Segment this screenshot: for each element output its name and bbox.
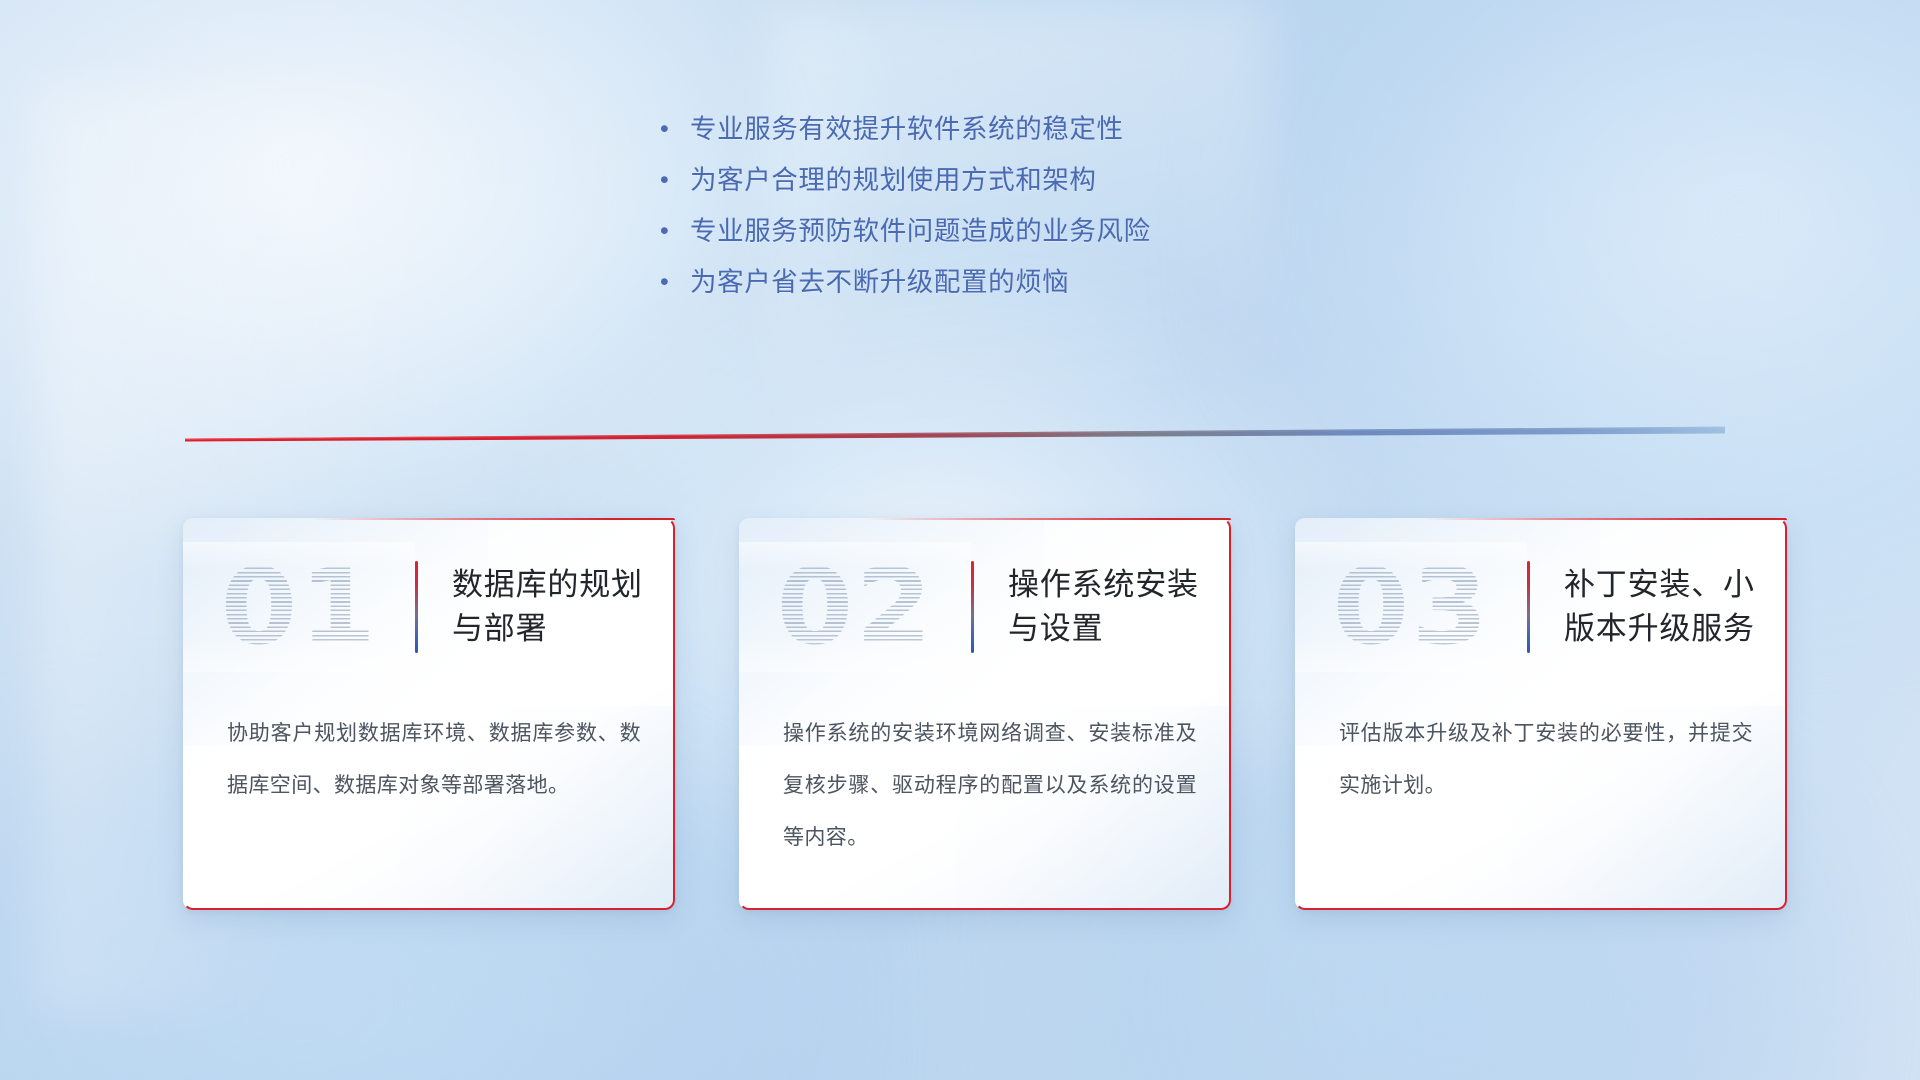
list-item: • 专业服务有效提升软件系统的稳定性	[660, 104, 1420, 155]
list-item: • 为客户省去不断升级配置的烦恼	[660, 257, 1420, 308]
list-item: • 专业服务预防软件问题造成的业务风险	[660, 206, 1420, 257]
card-title: 操作系统安装与设置	[974, 563, 1231, 651]
service-card-02[interactable]: 02 操作系统安装与设置 操作系统的安装环境网络调查、安装标准及复核步骤、驱动程…	[739, 518, 1231, 910]
card-number-watermark: 01	[183, 542, 415, 672]
bullet-text: 专业服务有效提升软件系统的稳定性	[690, 104, 1124, 155]
list-item: • 为客户合理的规划使用方式和架构	[660, 155, 1420, 206]
divider-wedge-icon	[185, 420, 1725, 446]
bullet-text: 为客户省去不断升级配置的烦恼	[690, 257, 1069, 308]
card-description: 评估版本升级及补丁安装的必要性，并提交实施计划。	[1339, 708, 1753, 812]
card-header: 01 数据库的规划与部署	[183, 542, 675, 672]
bullet-dot-icon: •	[660, 257, 690, 308]
bullet-dot-icon: •	[660, 206, 690, 257]
card-number-watermark: 03	[1295, 542, 1527, 672]
card-number-text: 02	[776, 555, 934, 659]
service-card-03[interactable]: 03 补丁安装、小版本升级服务 评估版本升级及补丁安装的必要性，并提交实施计划。	[1295, 518, 1787, 910]
card-header: 03 补丁安装、小版本升级服务	[1295, 542, 1787, 672]
section-divider	[185, 420, 1725, 446]
bullet-text: 专业服务预防软件问题造成的业务风险	[690, 206, 1151, 257]
card-description: 操作系统的安装环境网络调查、安装标准及复核步骤、驱动程序的配置以及系统的设置等内…	[783, 708, 1197, 864]
service-card-list: 01 数据库的规划与部署 协助客户规划数据库环境、数据库参数、数据库空间、数据库…	[183, 518, 1787, 910]
bullet-dot-icon: •	[660, 104, 690, 155]
benefit-bullet-list: • 专业服务有效提升软件系统的稳定性 • 为客户合理的规划使用方式和架构 • 专…	[660, 104, 1420, 308]
card-title: 数据库的规划与部署	[418, 563, 675, 651]
card-number-watermark: 02	[739, 542, 971, 672]
service-card-01[interactable]: 01 数据库的规划与部署 协助客户规划数据库环境、数据库参数、数据库空间、数据库…	[183, 518, 675, 910]
card-number-text: 03	[1332, 555, 1490, 659]
card-number-text: 01	[220, 555, 378, 659]
bullet-text: 为客户合理的规划使用方式和架构	[690, 155, 1097, 206]
card-title: 补丁安装、小版本升级服务	[1530, 563, 1787, 651]
bullet-dot-icon: •	[660, 155, 690, 206]
card-header: 02 操作系统安装与设置	[739, 542, 1231, 672]
card-description: 协助客户规划数据库环境、数据库参数、数据库空间、数据库对象等部署落地。	[227, 708, 641, 812]
